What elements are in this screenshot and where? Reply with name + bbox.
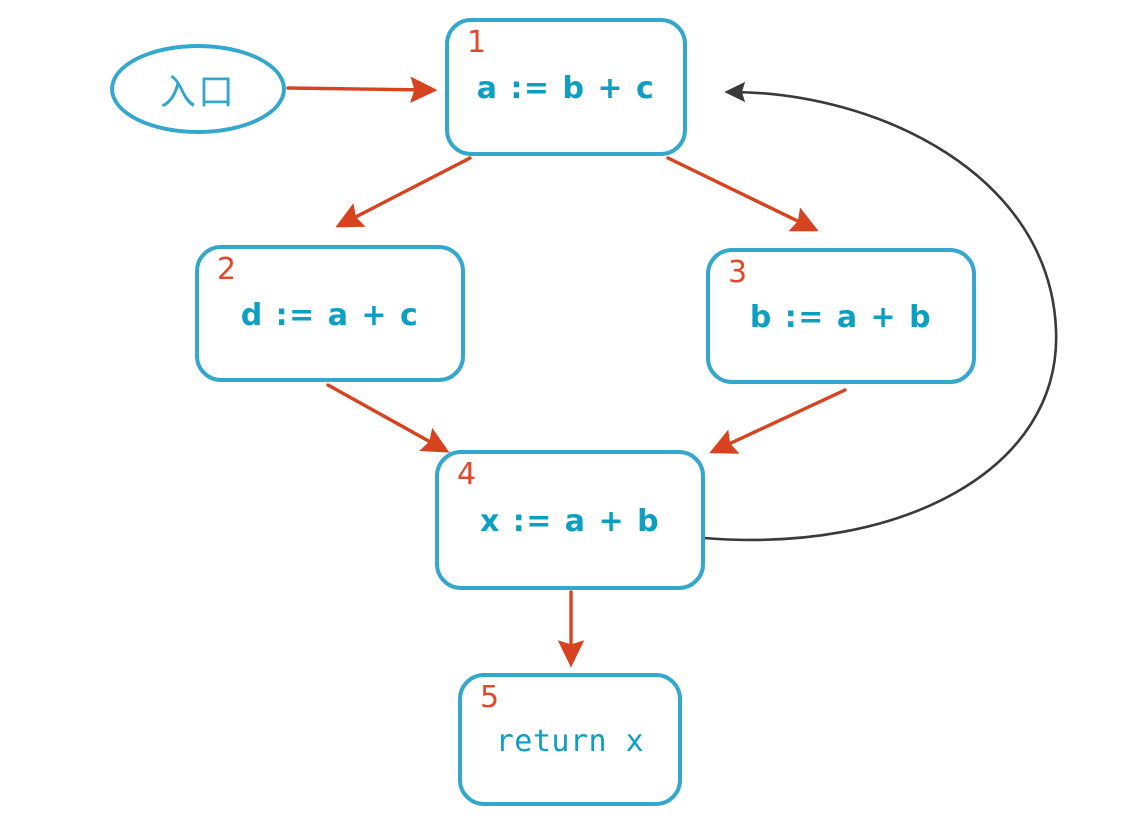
node-1[interactable]: 1 a := b + c (445, 18, 687, 156)
node-4[interactable]: 4 x := a + b (435, 450, 705, 590)
edge-2-to-4 (328, 385, 443, 449)
diagram-canvas: 入口 1 a := b + c 2 d := a + c 3 b := a + … (0, 0, 1142, 826)
node-3-id: 3 (728, 258, 748, 288)
node-3[interactable]: 3 b := a + b (706, 248, 976, 384)
node-5-id: 5 (480, 683, 500, 713)
node-entry[interactable]: 入口 (110, 44, 286, 134)
node-3-text: b := a + b (710, 300, 972, 335)
node-4-id: 4 (457, 460, 477, 490)
node-4-text: x := a + b (439, 504, 701, 539)
edge-3-to-4 (716, 390, 845, 450)
edge-1-to-2 (342, 158, 470, 224)
edge-1-to-3 (668, 158, 812, 228)
node-entry-label: 入口 (160, 63, 236, 115)
node-5-text: return x (462, 723, 678, 758)
node-2[interactable]: 2 d := a + c (195, 245, 465, 382)
node-5[interactable]: 5 return x (458, 673, 682, 806)
node-1-text: a := b + c (449, 71, 683, 106)
node-1-id: 1 (467, 28, 487, 58)
node-2-id: 2 (217, 255, 237, 285)
node-2-text: d := a + c (199, 297, 461, 332)
edge-entry-to-1 (288, 88, 430, 90)
